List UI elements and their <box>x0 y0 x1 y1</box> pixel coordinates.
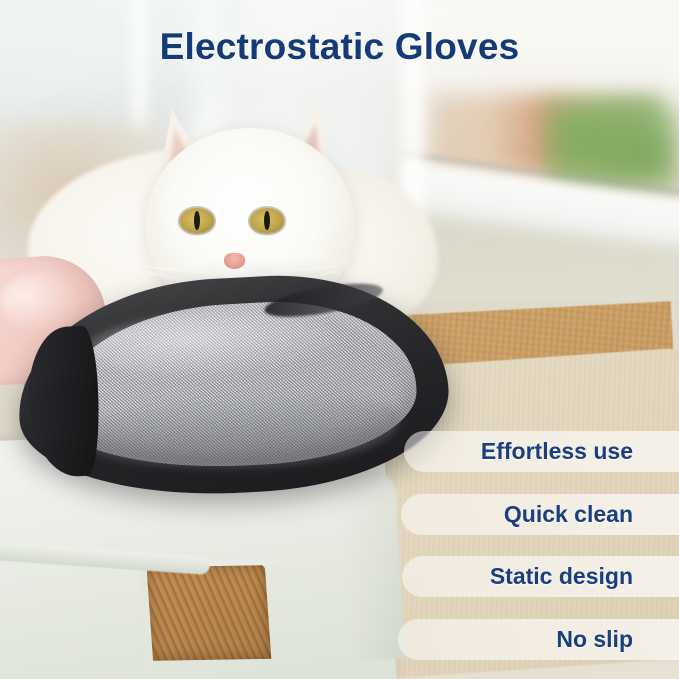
feature-badge-label: Effortless use <box>481 438 633 465</box>
litter-house-right-edge <box>335 469 405 662</box>
electrostatic-grooming-glove <box>13 267 454 504</box>
feature-badge-label: Static design <box>490 563 633 590</box>
glove-cuff <box>25 325 103 478</box>
litter-house-opening-frame <box>138 559 287 671</box>
product-marketing-image: Electrostatic Gloves Effortless use Quic… <box>0 0 679 679</box>
cat-nose <box>224 253 245 269</box>
feature-badge-label: Quick clean <box>504 501 633 528</box>
feature-badge-no-slip: No slip <box>398 619 679 660</box>
cat-eye-right <box>250 208 284 233</box>
feature-badge-label: No slip <box>556 626 633 653</box>
feature-badge-quick-clean: Quick clean <box>401 494 679 535</box>
cat-pupil-left <box>194 211 200 230</box>
cat-pupil-right <box>264 211 270 230</box>
feature-badge-static-design: Static design <box>402 556 679 597</box>
cat-eye-left <box>180 208 214 233</box>
page-title: Electrostatic Gloves <box>0 26 679 68</box>
feature-badge-effortless-use: Effortless use <box>404 431 679 472</box>
